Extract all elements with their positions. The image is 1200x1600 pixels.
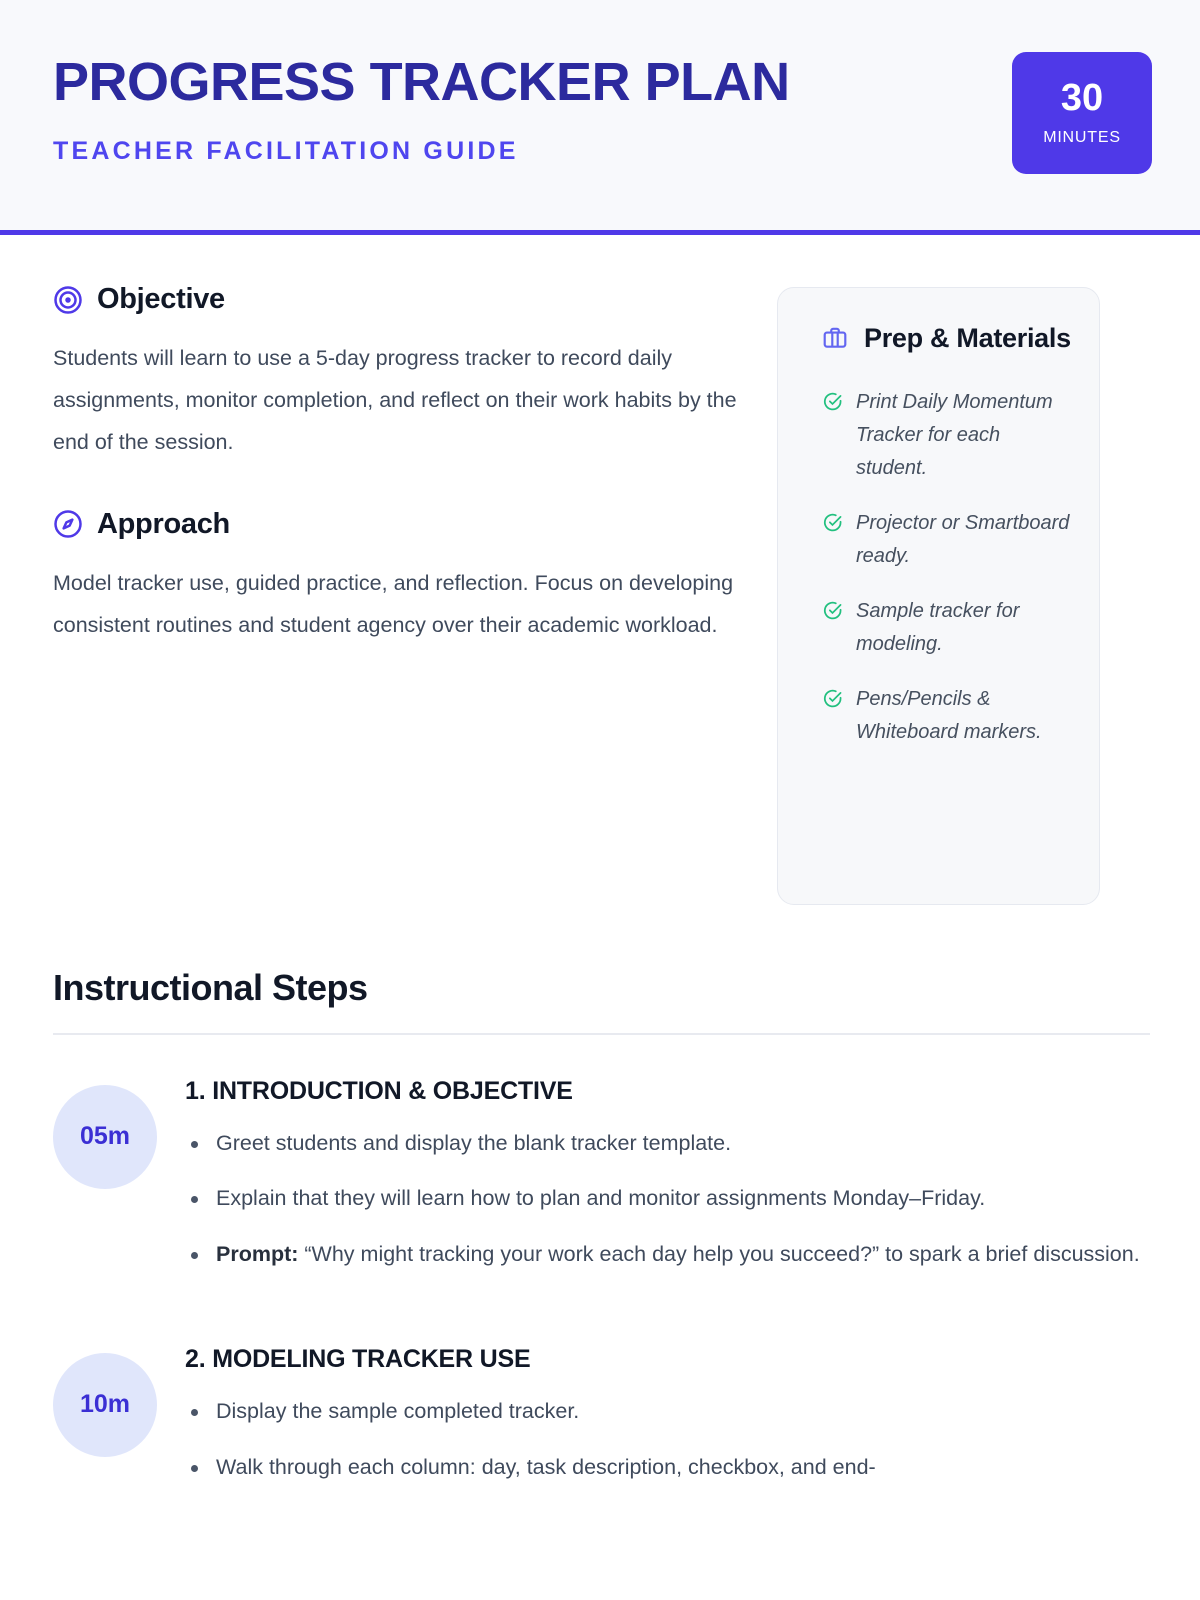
prep-item-text: Print Daily Momentum Tracker for each st… bbox=[856, 386, 1073, 485]
list-item: Sample tracker for modeling. bbox=[822, 595, 1073, 661]
target-icon bbox=[53, 285, 83, 315]
step-bullets: Display the sample completed tracker. Wa… bbox=[185, 1392, 1150, 1488]
list-item: Pens/Pencils & Whiteboard markers. bbox=[822, 683, 1073, 749]
compass-icon bbox=[53, 509, 83, 539]
duration-value: 30 bbox=[1061, 79, 1103, 117]
list-item: Walk through each column: day, task desc… bbox=[185, 1448, 1150, 1488]
check-circle-icon bbox=[822, 600, 843, 621]
list-item: Greet students and display the blank tra… bbox=[185, 1124, 1150, 1164]
prep-heading: Prep & Materials bbox=[864, 320, 1071, 356]
approach-heading: Approach bbox=[97, 508, 230, 541]
objective-heading: Objective bbox=[97, 283, 225, 316]
duration-badge: 30 MINUTES bbox=[1012, 52, 1152, 174]
briefcase-icon bbox=[822, 325, 848, 351]
step-bullets: Greet students and display the blank tra… bbox=[185, 1124, 1150, 1275]
list-item: Explain that they will learn how to plan… bbox=[185, 1179, 1150, 1219]
list-item: Prompt: “Why might tracking your work ea… bbox=[185, 1235, 1150, 1275]
bullet-lead: Prompt: bbox=[216, 1242, 298, 1266]
duration-unit: MINUTES bbox=[1043, 129, 1121, 147]
overview-grid: Objective Students will learn to use a 5… bbox=[53, 283, 1150, 905]
prep-item-text: Projector or Smartboard ready. bbox=[856, 507, 1073, 573]
overview-main-column: Objective Students will learn to use a 5… bbox=[53, 283, 753, 647]
list-item: Display the sample completed tracker. bbox=[185, 1392, 1150, 1432]
bullet-text: “Why might tracking your work each day h… bbox=[298, 1242, 1139, 1266]
list-item: Print Daily Momentum Tracker for each st… bbox=[822, 386, 1073, 485]
bullet-text: Explain that they will learn how to plan… bbox=[216, 1186, 985, 1210]
bullet-text: Walk through each column: day, task desc… bbox=[216, 1455, 876, 1479]
step-title: 1. INTRODUCTION & OBJECTIVE bbox=[185, 1077, 1150, 1106]
steps-divider bbox=[53, 1033, 1150, 1035]
prep-item-text: Pens/Pencils & Whiteboard markers. bbox=[856, 683, 1073, 749]
list-item: Projector or Smartboard ready. bbox=[822, 507, 1073, 573]
prep-heading-row: Prep & Materials bbox=[804, 320, 1073, 356]
bullet-text: Display the sample completed tracker. bbox=[216, 1399, 579, 1423]
objective-heading-row: Objective bbox=[53, 283, 753, 316]
step-content: 2. MODELING TRACKER USE Display the samp… bbox=[185, 1339, 1150, 1504]
steps-list: 05m 1. INTRODUCTION & OBJECTIVE Greet st… bbox=[53, 1071, 1150, 1504]
prep-materials-card: Prep & Materials Print Daily Momentum Tr… bbox=[777, 287, 1100, 905]
check-circle-icon bbox=[822, 391, 843, 412]
step-time-badge: 05m bbox=[53, 1085, 157, 1189]
page-content: Objective Students will learn to use a 5… bbox=[0, 235, 1200, 1503]
step-time-badge: 10m bbox=[53, 1353, 157, 1457]
page-subtitle: TEACHER FACILITATION GUIDE bbox=[53, 137, 790, 166]
step-title: 2. MODELING TRACKER USE bbox=[185, 1345, 1150, 1374]
section-spacer bbox=[53, 464, 753, 508]
check-circle-icon bbox=[822, 512, 843, 533]
page-title: PROGRESS TRACKER PLAN bbox=[53, 54, 790, 111]
step-content: 1. INTRODUCTION & OBJECTIVE Greet studen… bbox=[185, 1071, 1150, 1291]
check-circle-icon bbox=[822, 688, 843, 709]
step-item: 05m 1. INTRODUCTION & OBJECTIVE Greet st… bbox=[53, 1071, 1150, 1291]
approach-heading-row: Approach bbox=[53, 508, 753, 541]
prep-items-list: Print Daily Momentum Tracker for each st… bbox=[804, 386, 1073, 749]
prep-item-text: Sample tracker for modeling. bbox=[856, 595, 1073, 661]
approach-text: Model tracker use, guided practice, and … bbox=[53, 563, 743, 647]
step-item: 10m 2. MODELING TRACKER USE Display the … bbox=[53, 1339, 1150, 1504]
overview-side-column: Prep & Materials Print Daily Momentum Tr… bbox=[777, 287, 1100, 905]
instructional-steps-title: Instructional Steps bbox=[53, 967, 1150, 1009]
page-header: PROGRESS TRACKER PLAN TEACHER FACILITATI… bbox=[0, 0, 1200, 235]
header-title-block: PROGRESS TRACKER PLAN TEACHER FACILITATI… bbox=[53, 46, 790, 166]
lesson-plan-page: PROGRESS TRACKER PLAN TEACHER FACILITATI… bbox=[0, 0, 1200, 1600]
bullet-text: Greet students and display the blank tra… bbox=[216, 1131, 731, 1155]
objective-text: Students will learn to use a 5-day progr… bbox=[53, 338, 743, 464]
